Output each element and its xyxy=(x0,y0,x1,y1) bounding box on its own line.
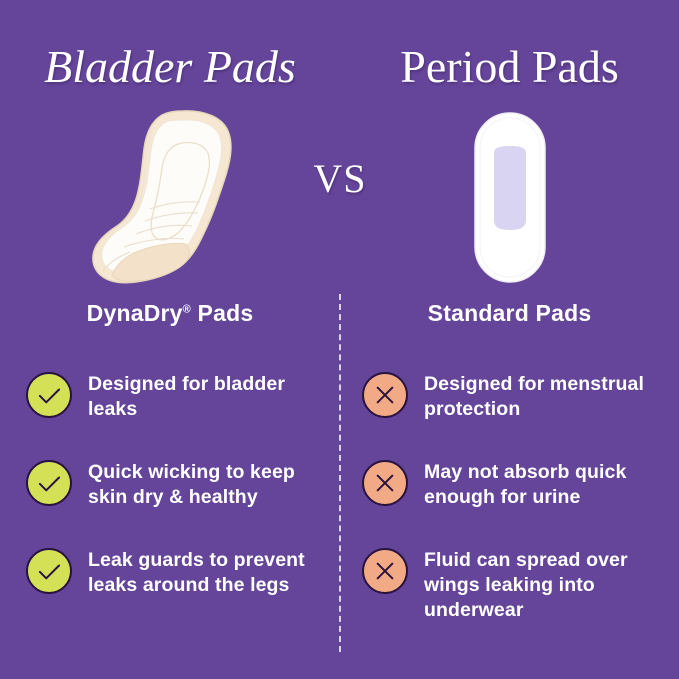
list-item-label: Designed for bladder leaks xyxy=(88,370,326,422)
list-item: Leak guards to prevent leaks around the … xyxy=(26,546,326,598)
list-item-label: May not absorb quick enough for urine xyxy=(424,458,668,510)
check-circle-icon xyxy=(26,548,72,594)
comparison-infographic: Bladder Pads Period Pads xyxy=(0,0,679,679)
list-item: Fluid can spread over wings leaking into… xyxy=(362,546,668,623)
left-product-name: DynaDry® Pads xyxy=(0,300,340,327)
list-item-label: Designed for menstrual protection xyxy=(424,370,668,422)
list-item: Designed for bladder leaks xyxy=(26,370,326,422)
cross-circle-icon xyxy=(362,548,408,594)
right-bullet-list: Designed for menstrual protection May no… xyxy=(362,370,668,659)
list-item-label: Quick wicking to keep skin dry & healthy xyxy=(88,458,326,510)
cross-circle-icon xyxy=(362,372,408,418)
standard-pad-illustration xyxy=(455,105,565,290)
vs-label: VS xyxy=(300,155,380,202)
list-item: May not absorb quick enough for urine xyxy=(362,458,668,510)
list-item: Quick wicking to keep skin dry & healthy xyxy=(26,458,326,510)
right-product-name: Standard Pads xyxy=(340,300,679,327)
list-item-label: Leak guards to prevent leaks around the … xyxy=(88,546,326,598)
check-circle-icon xyxy=(26,460,72,506)
list-item: Designed for menstrual protection xyxy=(362,370,668,422)
cross-circle-icon xyxy=(362,460,408,506)
left-bullet-list: Designed for bladder leaks Quick wicking… xyxy=(26,370,326,634)
column-divider xyxy=(339,294,341,652)
list-item-label: Fluid can spread over wings leaking into… xyxy=(424,546,668,623)
left-column-title: Bladder Pads xyxy=(0,36,340,98)
bladder-pad-illustration xyxy=(70,105,270,290)
right-column-title: Period Pads xyxy=(340,36,679,98)
right-product-name-text: Standard Pads xyxy=(428,300,592,326)
left-product-name-text: DynaDry® Pads xyxy=(87,300,254,326)
check-circle-icon xyxy=(26,372,72,418)
title-row: Bladder Pads Period Pads xyxy=(0,36,679,102)
